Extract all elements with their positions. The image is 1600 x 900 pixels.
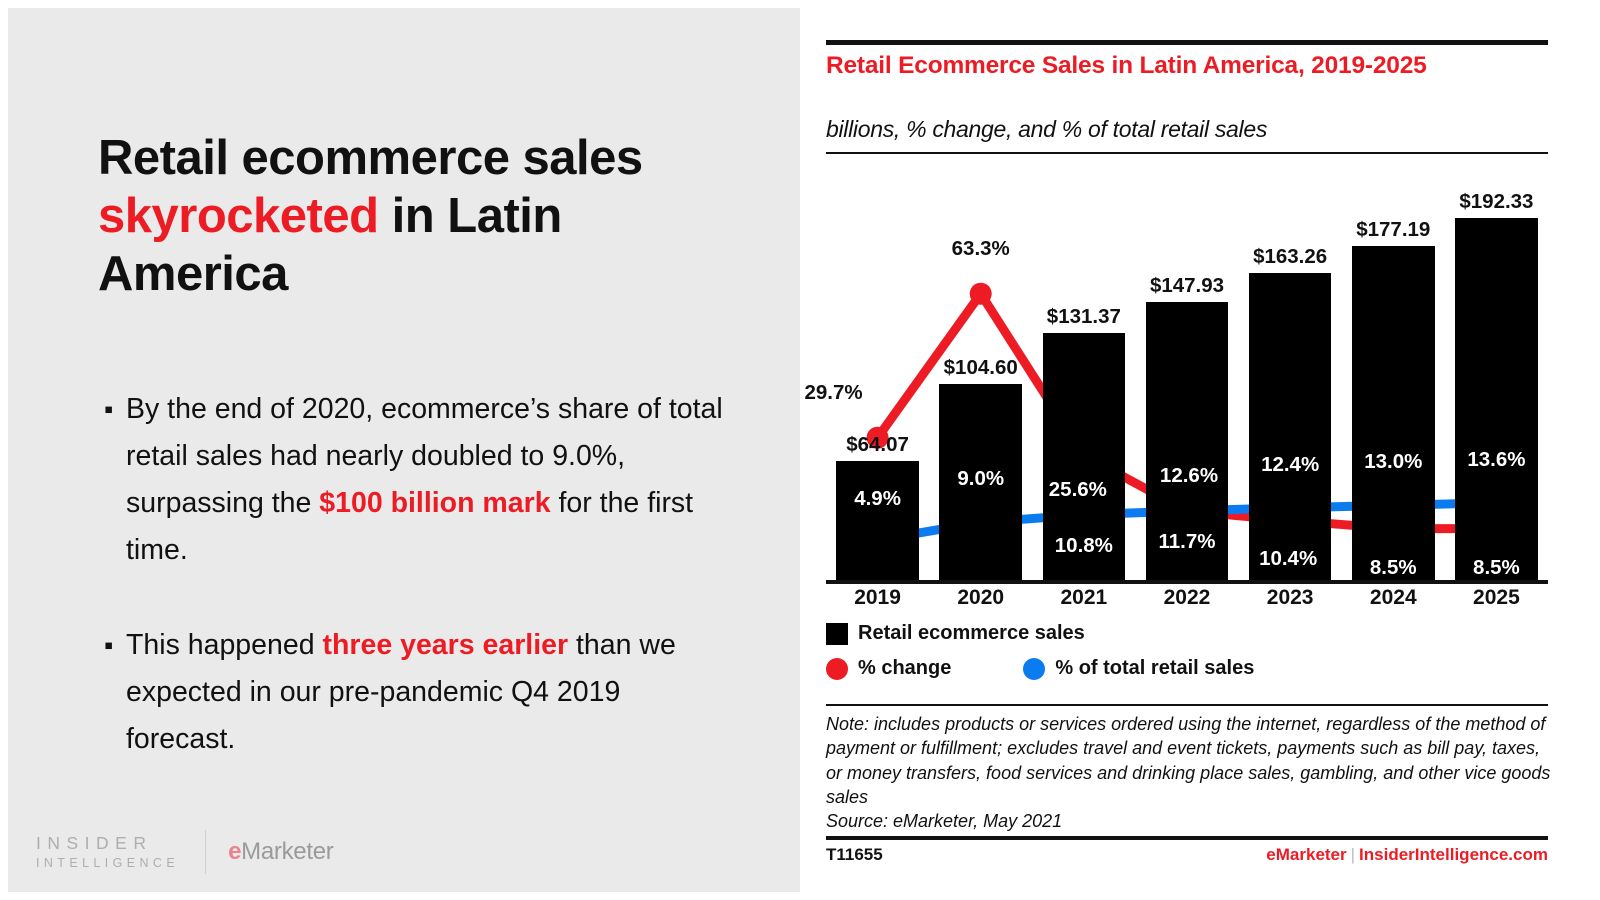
- emarketer-logo-e: e: [228, 838, 241, 865]
- footer-brand-site: InsiderIntelligence.com: [1359, 845, 1548, 864]
- bullet-2-pre: This happened: [126, 629, 322, 661]
- emarketer-logo-rest: Marketer: [241, 838, 333, 865]
- pct-change-label-2023: 10.4%: [1237, 547, 1340, 571]
- pct-change-label-2022: 12.6%: [1137, 464, 1240, 488]
- x-tick-2025: 2025: [1445, 586, 1548, 610]
- x-tick-2021: 2021: [1032, 586, 1135, 610]
- legend-row-bars: Retail ecommerce sales: [826, 622, 1548, 645]
- pct-change-label-2025: 8.5%: [1445, 556, 1548, 580]
- pct-change-label-2019: 29.7%: [782, 381, 885, 405]
- bar-value-label-2020: $104.60: [929, 356, 1032, 380]
- x-tick-2019: 2019: [826, 586, 929, 610]
- footer-brand: eMarketer|InsiderIntelligence.com: [1266, 845, 1548, 865]
- headline-highlight: skyrocketed: [98, 189, 379, 243]
- pct-change-point-2020: [970, 283, 992, 305]
- footer-rule: [826, 836, 1548, 840]
- chart-top-rule: [826, 40, 1548, 45]
- pct-total-label-2021: 10.8%: [1032, 534, 1135, 558]
- left-content-panel: Retail ecommerce sales skyrocketed in La…: [8, 8, 800, 892]
- footer-brand-emarketer: eMarketer: [1266, 845, 1346, 864]
- brand-logo: INSIDER INTELLIGENCE eMarketer: [36, 830, 333, 874]
- chart-note: Note: includes products or services orde…: [826, 712, 1552, 833]
- bar-value-label-2024: $177.19: [1342, 218, 1445, 242]
- bullet-text: By the end of 2020, ecommerce’s share of…: [126, 386, 724, 574]
- x-tick-2022: 2022: [1135, 586, 1238, 610]
- bar-value-label-2021: $131.37: [1032, 305, 1135, 329]
- bar-2023: [1249, 273, 1332, 583]
- pct-total-label-2020: 9.0%: [929, 467, 1032, 491]
- pct-change-label-2020: 63.3%: [929, 237, 1032, 261]
- legend-row-lines: % change % of total retail sales: [826, 657, 1548, 680]
- slide: Retail ecommerce sales skyrocketed in La…: [0, 0, 1600, 900]
- pct-total-label-2019: 4.9%: [826, 487, 929, 511]
- chart-x-axis: [826, 580, 1548, 584]
- pct-total-label-2025: 13.6%: [1445, 448, 1548, 472]
- insider-logo-line1: INSIDER: [36, 832, 179, 856]
- source-text: Source: eMarketer, May 2021: [826, 811, 1062, 831]
- bar-2019: [836, 461, 919, 583]
- legend-label-pct-total: % of total retail sales: [1055, 657, 1254, 680]
- pct-total-label-2024: 13.0%: [1342, 450, 1445, 474]
- insider-logo-line2: INTELLIGENCE: [36, 855, 179, 872]
- bullet-1-highlight: $100 billion mark: [319, 487, 550, 519]
- legend-label-pct-change: % change: [858, 657, 951, 680]
- x-tick-2023: 2023: [1239, 586, 1342, 610]
- pct-total-label-2022: 11.7%: [1135, 530, 1238, 554]
- page-title: Retail ecommerce sales skyrocketed in La…: [98, 130, 738, 303]
- bar-value-label-2019: $64.07: [826, 433, 929, 457]
- legend-swatch-red-icon: [826, 658, 848, 680]
- chart-legend: Retail ecommerce sales % change % of tot…: [826, 622, 1548, 680]
- chart-id: T11655: [826, 845, 883, 865]
- bullet-2-highlight: three years earlier: [322, 629, 568, 661]
- pct-change-label-2024: 8.5%: [1342, 556, 1445, 580]
- chart-panel: Retail Ecommerce Sales in Latin America,…: [812, 0, 1600, 900]
- footer-brand-sep: |: [1351, 845, 1355, 864]
- logo-divider: [205, 830, 206, 874]
- chart-title: Retail Ecommerce Sales in Latin America,…: [826, 52, 1526, 81]
- list-item: ▪ This happened three years earlier than…: [104, 622, 724, 763]
- bar-value-label-2023: $163.26: [1239, 245, 1342, 269]
- chart-plot-area: $64.07$104.60$131.37$147.93$163.26$177.1…: [826, 165, 1548, 583]
- legend-swatch-blue-icon: [1023, 658, 1045, 680]
- bar-2024: [1352, 246, 1435, 583]
- legend-label-bars: Retail ecommerce sales: [858, 622, 1085, 645]
- bar-value-label-2022: $147.93: [1135, 274, 1238, 298]
- x-tick-2020: 2020: [929, 586, 1032, 610]
- insider-intelligence-logo: INSIDER INTELLIGENCE: [36, 832, 179, 873]
- bar-2025: [1455, 218, 1538, 583]
- x-tick-2024: 2024: [1342, 586, 1445, 610]
- note-top-rule: [826, 704, 1548, 706]
- pct-total-label-2023: 12.4%: [1239, 453, 1342, 477]
- bullet-marker-icon: ▪: [104, 386, 126, 432]
- list-item: ▪ By the end of 2020, ecommerce’s share …: [104, 386, 724, 574]
- bullet-text: This happened three years earlier than w…: [126, 622, 724, 763]
- chart-subtitle: billions, % change, and % of total retai…: [826, 116, 1526, 143]
- bullet-list: ▪ By the end of 2020, ecommerce’s share …: [104, 386, 724, 811]
- bar-value-label-2025: $192.33: [1445, 190, 1548, 214]
- legend-swatch-bar-icon: [826, 623, 848, 645]
- emarketer-logo: eMarketer: [228, 838, 333, 866]
- pct-change-label-2021: 25.6%: [1026, 478, 1129, 502]
- chart-x-tick-labels: 2019202020212022202320242025: [826, 586, 1548, 616]
- bullet-marker-icon: ▪: [104, 622, 126, 668]
- chart-footer: T11655 eMarketer|InsiderIntelligence.com: [826, 845, 1548, 865]
- note-text: Note: includes products or services orde…: [826, 714, 1550, 807]
- headline-part-1: Retail ecommerce sales: [98, 131, 643, 185]
- chart-subtitle-rule: [826, 152, 1548, 154]
